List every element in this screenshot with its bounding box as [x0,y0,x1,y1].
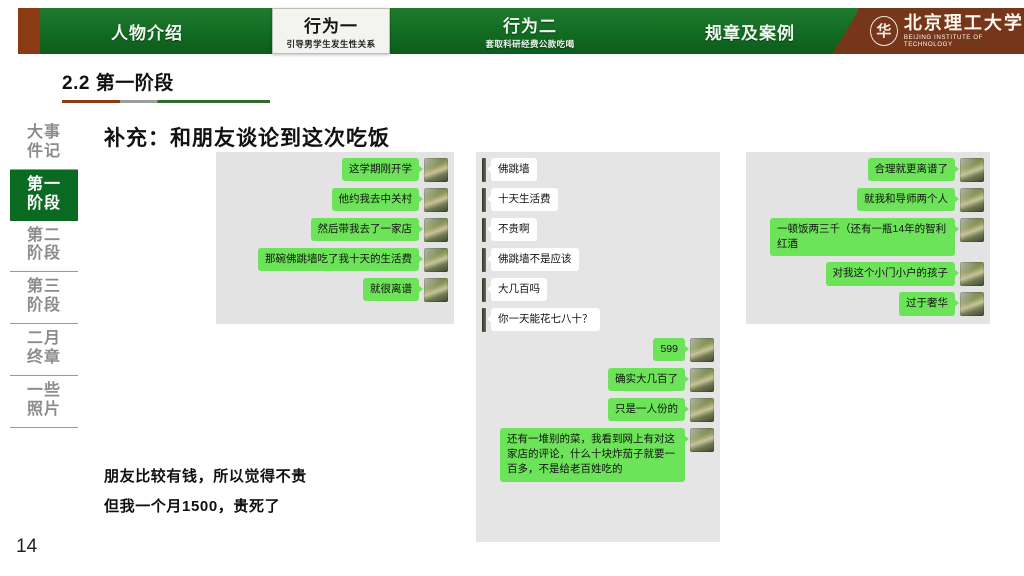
avatar-icon [960,188,984,212]
university-logo-text: 北京理工大学 BEIJING INSTITUTE OF TECHNOLOGY [904,14,1024,49]
sidebar-item-1[interactable]: 第一阶段 [10,170,78,221]
university-name-cn: 北京理工大学 [904,14,1024,33]
chat-panel-middle: 佛跳墙十天生活费不贵啊佛跳墙不是应该大几百吗你一天能花七八十？599确实大几百了… [476,152,720,542]
sidebar-item-label-line2: 件记 [10,143,78,162]
chat-message-out: 对我这个小门小户的孩子 [752,262,984,286]
chat-bubble: 就我和导师两个人 [857,188,955,211]
nav-tab-subtitle: 引导男学生发生性关系 [286,38,375,50]
chat-message-in: 佛跳墙 [482,158,714,182]
chat-message-out: 确实大几百了 [482,368,714,392]
chat-message-in: 佛跳墙不是应该 [482,248,714,272]
avatar-icon [424,158,448,182]
sidebar-item-5[interactable]: 一些照片 [10,376,78,428]
chat-message-in: 不贵啊 [482,218,714,242]
chat-message-out: 然后带我去了一家店 [222,218,448,242]
chat-message-out: 就我和导师两个人 [752,188,984,212]
chat-bubble: 佛跳墙 [491,158,537,181]
sidebar-item-label-line2: 阶段 [10,297,78,316]
chat-bubble: 只是一人份的 [608,398,685,421]
header-accent-block [18,8,40,54]
page-number: 14 [16,536,37,558]
nav-tab-title: 行为二 [503,12,557,37]
chat-bubble: 599 [653,338,685,361]
nav-tab-xingwei-yi[interactable]: 行为一 引导男学生发生性关系 [272,8,390,54]
chat-bubble: 你一天能花七八十？ [491,308,600,331]
chat-message-out: 只是一人份的 [482,398,714,422]
avatar-icon [690,338,714,362]
sidebar-item-label-line2: 阶段 [10,195,78,214]
sidebar-item-label-line2: 照片 [10,401,78,420]
sidebar-item-label-line1: 二月 [27,330,61,347]
chat-bubble: 过于奢华 [899,292,955,315]
sidebar-item-label-line2: 终章 [10,349,78,368]
university-name-en: BEIJING INSTITUTE OF TECHNOLOGY [904,34,1024,48]
chat-bubble: 他约我去中关村 [332,188,420,211]
nav-tab-subtitle: 套取科研经费公款吃喝 [485,38,574,50]
chat-message-in: 你一天能花七八十？ [482,308,714,332]
avatar-icon [424,248,448,272]
chat-bubble: 十天生活费 [491,188,558,211]
avatar-icon [482,218,486,242]
sidebar-item-label-line1: 大事 [27,124,61,141]
university-seal-icon: 华 [870,16,898,46]
chat-message-out: 他约我去中关村 [222,188,448,212]
slide-note-line-0: 朋友比较有钱，所以觉得不贵 [104,462,307,492]
sidebar-item-3[interactable]: 第三阶段 [10,272,78,324]
section-title-text: 2.2 第一阶段 [62,68,270,95]
chat-message-out: 一顿饭两三千（还有一瓶14年的智利红酒 [752,218,984,256]
nav-tab-guizhang-anli[interactable]: 规章及案例 [660,8,840,54]
avatar-icon [690,428,714,452]
chat-message-out: 就很离谱 [222,278,448,302]
avatar-icon [690,368,714,392]
nav-tab-title: 规章及案例 [705,19,795,44]
chat-bubble: 然后带我去了一家店 [311,218,420,241]
chat-bubble: 那碗佛跳墙吃了我十天的生活费 [258,248,419,271]
avatar-icon [960,218,984,242]
chat-message-out: 过于奢华 [752,292,984,316]
slide-header: 人物介绍 行为一 引导男学生发生性关系 行为二 套取科研经费公款吃喝 规章及案例… [0,8,1024,54]
avatar-icon [960,292,984,316]
avatar-icon [482,308,486,332]
nav-tab-title: 行为一 [304,12,358,37]
sidebar-item-label-line1: 第二 [27,227,61,244]
slide-headline: 补充：和朋友谈论到这次吃饭 [104,122,390,152]
avatar-icon [482,188,486,212]
sidebar-item-label-line2: 阶段 [10,245,78,264]
avatar-icon [424,278,448,302]
chat-message-out: 合理就更离谱了 [752,158,984,182]
avatar-icon [482,248,486,272]
avatar-icon [690,398,714,422]
avatar-icon [424,188,448,212]
chat-bubble: 一顿饭两三千（还有一瓶14年的智利红酒 [770,218,955,256]
university-logo: 华 北京理工大学 BEIJING INSTITUTE OF TECHNOLOGY [870,12,1024,50]
slide-root: 人物介绍 行为一 引导男学生发生性关系 行为二 套取科研经费公款吃喝 规章及案例… [0,0,1024,576]
sidebar-item-2[interactable]: 第二阶段 [10,221,78,273]
avatar-icon [424,218,448,242]
sidebar-item-label-line1: 第三 [27,278,61,295]
sidebar-item-4[interactable]: 二月终章 [10,324,78,376]
chat-message-out: 那碗佛跳墙吃了我十天的生活费 [222,248,448,272]
avatar-icon [960,262,984,286]
chat-panel-right: 合理就更离谱了就我和导师两个人一顿饭两三千（还有一瓶14年的智利红酒对我这个小门… [746,152,990,324]
nav-tab-xingwei-er[interactable]: 行为二 套取科研经费公款吃喝 [430,8,630,54]
chat-bubble: 不贵啊 [491,218,537,241]
chat-bubble: 确实大几百了 [608,368,685,391]
avatar-icon [960,158,984,182]
chat-message-out: 599 [482,338,714,362]
stage-sidebar: 大事件记第一阶段第二阶段第三阶段二月终章一些照片 [10,118,78,428]
chat-bubble: 合理就更离谱了 [868,158,956,181]
chat-message-in: 十天生活费 [482,188,714,212]
chat-bubble: 就很离谱 [363,278,419,301]
chat-bubble: 大几百吗 [491,278,547,301]
section-title: 2.2 第一阶段 [62,68,270,103]
slide-note: 朋友比较有钱，所以觉得不贵但我一个月1500，贵死了 [104,462,307,522]
avatar-icon [482,278,486,302]
chat-bubble: 佛跳墙不是应该 [491,248,579,271]
chat-panel-left: 这学期刚开学他约我去中关村然后带我去了一家店那碗佛跳墙吃了我十天的生活费就很离谱 [216,152,454,324]
avatar-icon [482,158,486,182]
chat-bubble: 对我这个小门小户的孩子 [826,262,956,285]
slide-note-line-1: 但我一个月1500，贵死了 [104,492,307,522]
nav-tab-title: 人物介绍 [111,19,183,44]
sidebar-item-0[interactable]: 大事件记 [10,118,78,170]
section-title-rule [62,100,270,103]
chat-bubble: 这学期刚开学 [342,158,419,181]
sidebar-item-label-line1: 第一 [27,176,61,193]
chat-message-out: 还有一堆别的菜，我看到网上有对这家店的评论，什么十块炸茄子就要一百多，不是给老百… [482,428,714,482]
chat-message-out: 这学期刚开学 [222,158,448,182]
nav-tab-renwu-jieshao[interactable]: 人物介绍 [62,8,232,54]
sidebar-item-label-line1: 一些 [27,382,61,399]
chat-bubble: 还有一堆别的菜，我看到网上有对这家店的评论，什么十块炸茄子就要一百多，不是给老百… [500,428,685,482]
chat-message-in: 大几百吗 [482,278,714,302]
